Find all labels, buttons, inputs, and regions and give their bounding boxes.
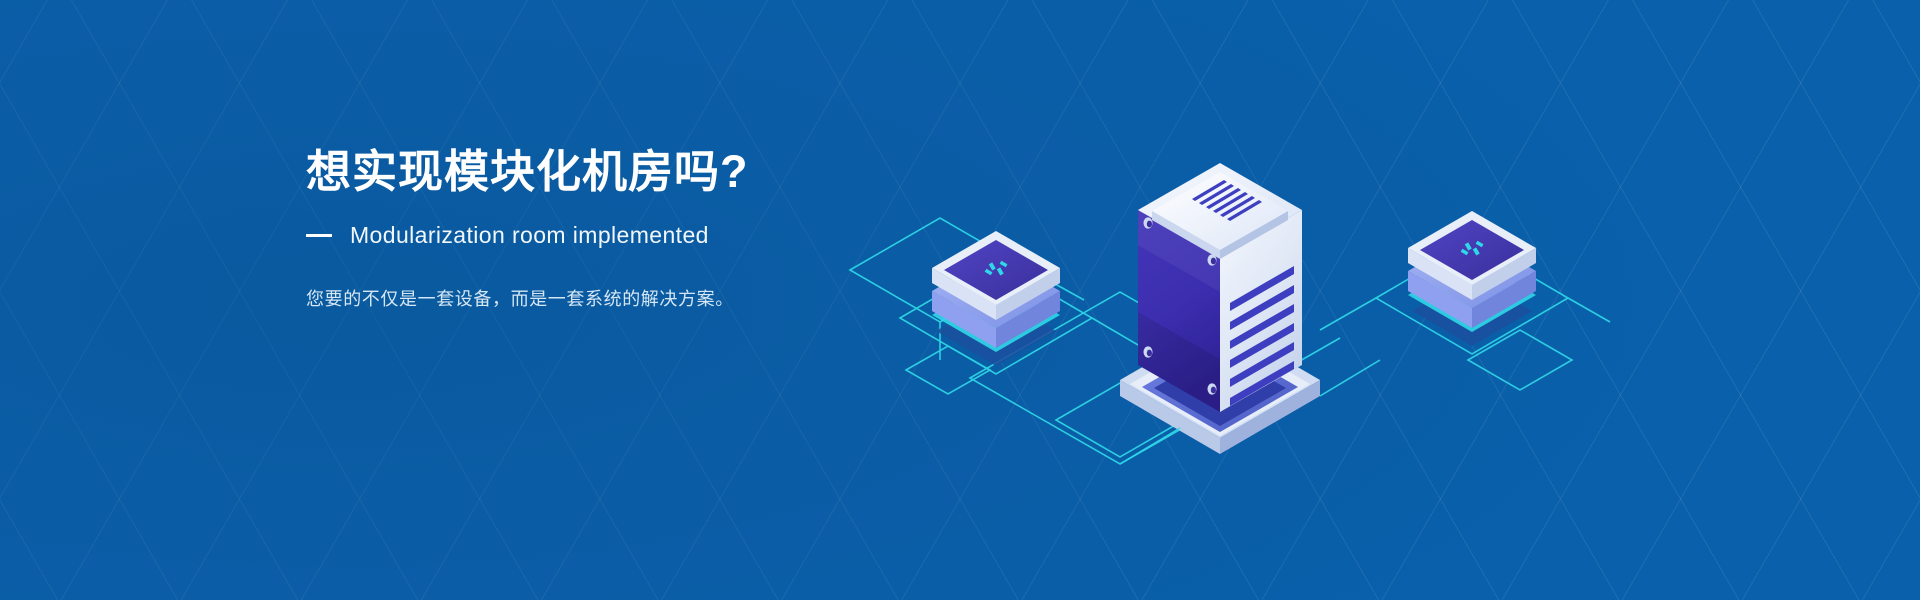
hero-subtitle: Modularization room implemented: [350, 222, 709, 249]
page-title: 想实现模块化机房吗?: [306, 148, 1066, 195]
accent-dash-divider: [306, 234, 332, 237]
center-server-tower: [1120, 163, 1320, 454]
subtitle-row: Modularization room implemented: [306, 222, 1066, 249]
hero-banner: 想实现模块化机房吗? Modularization room implement…: [0, 0, 1920, 600]
hero-text-block: 想实现模块化机房吗? Modularization room implement…: [306, 148, 1066, 311]
right-module-node: [1408, 211, 1536, 346]
hero-description: 您要的不仅是一套设备，而是一套系统的解决方案。: [306, 285, 1066, 311]
